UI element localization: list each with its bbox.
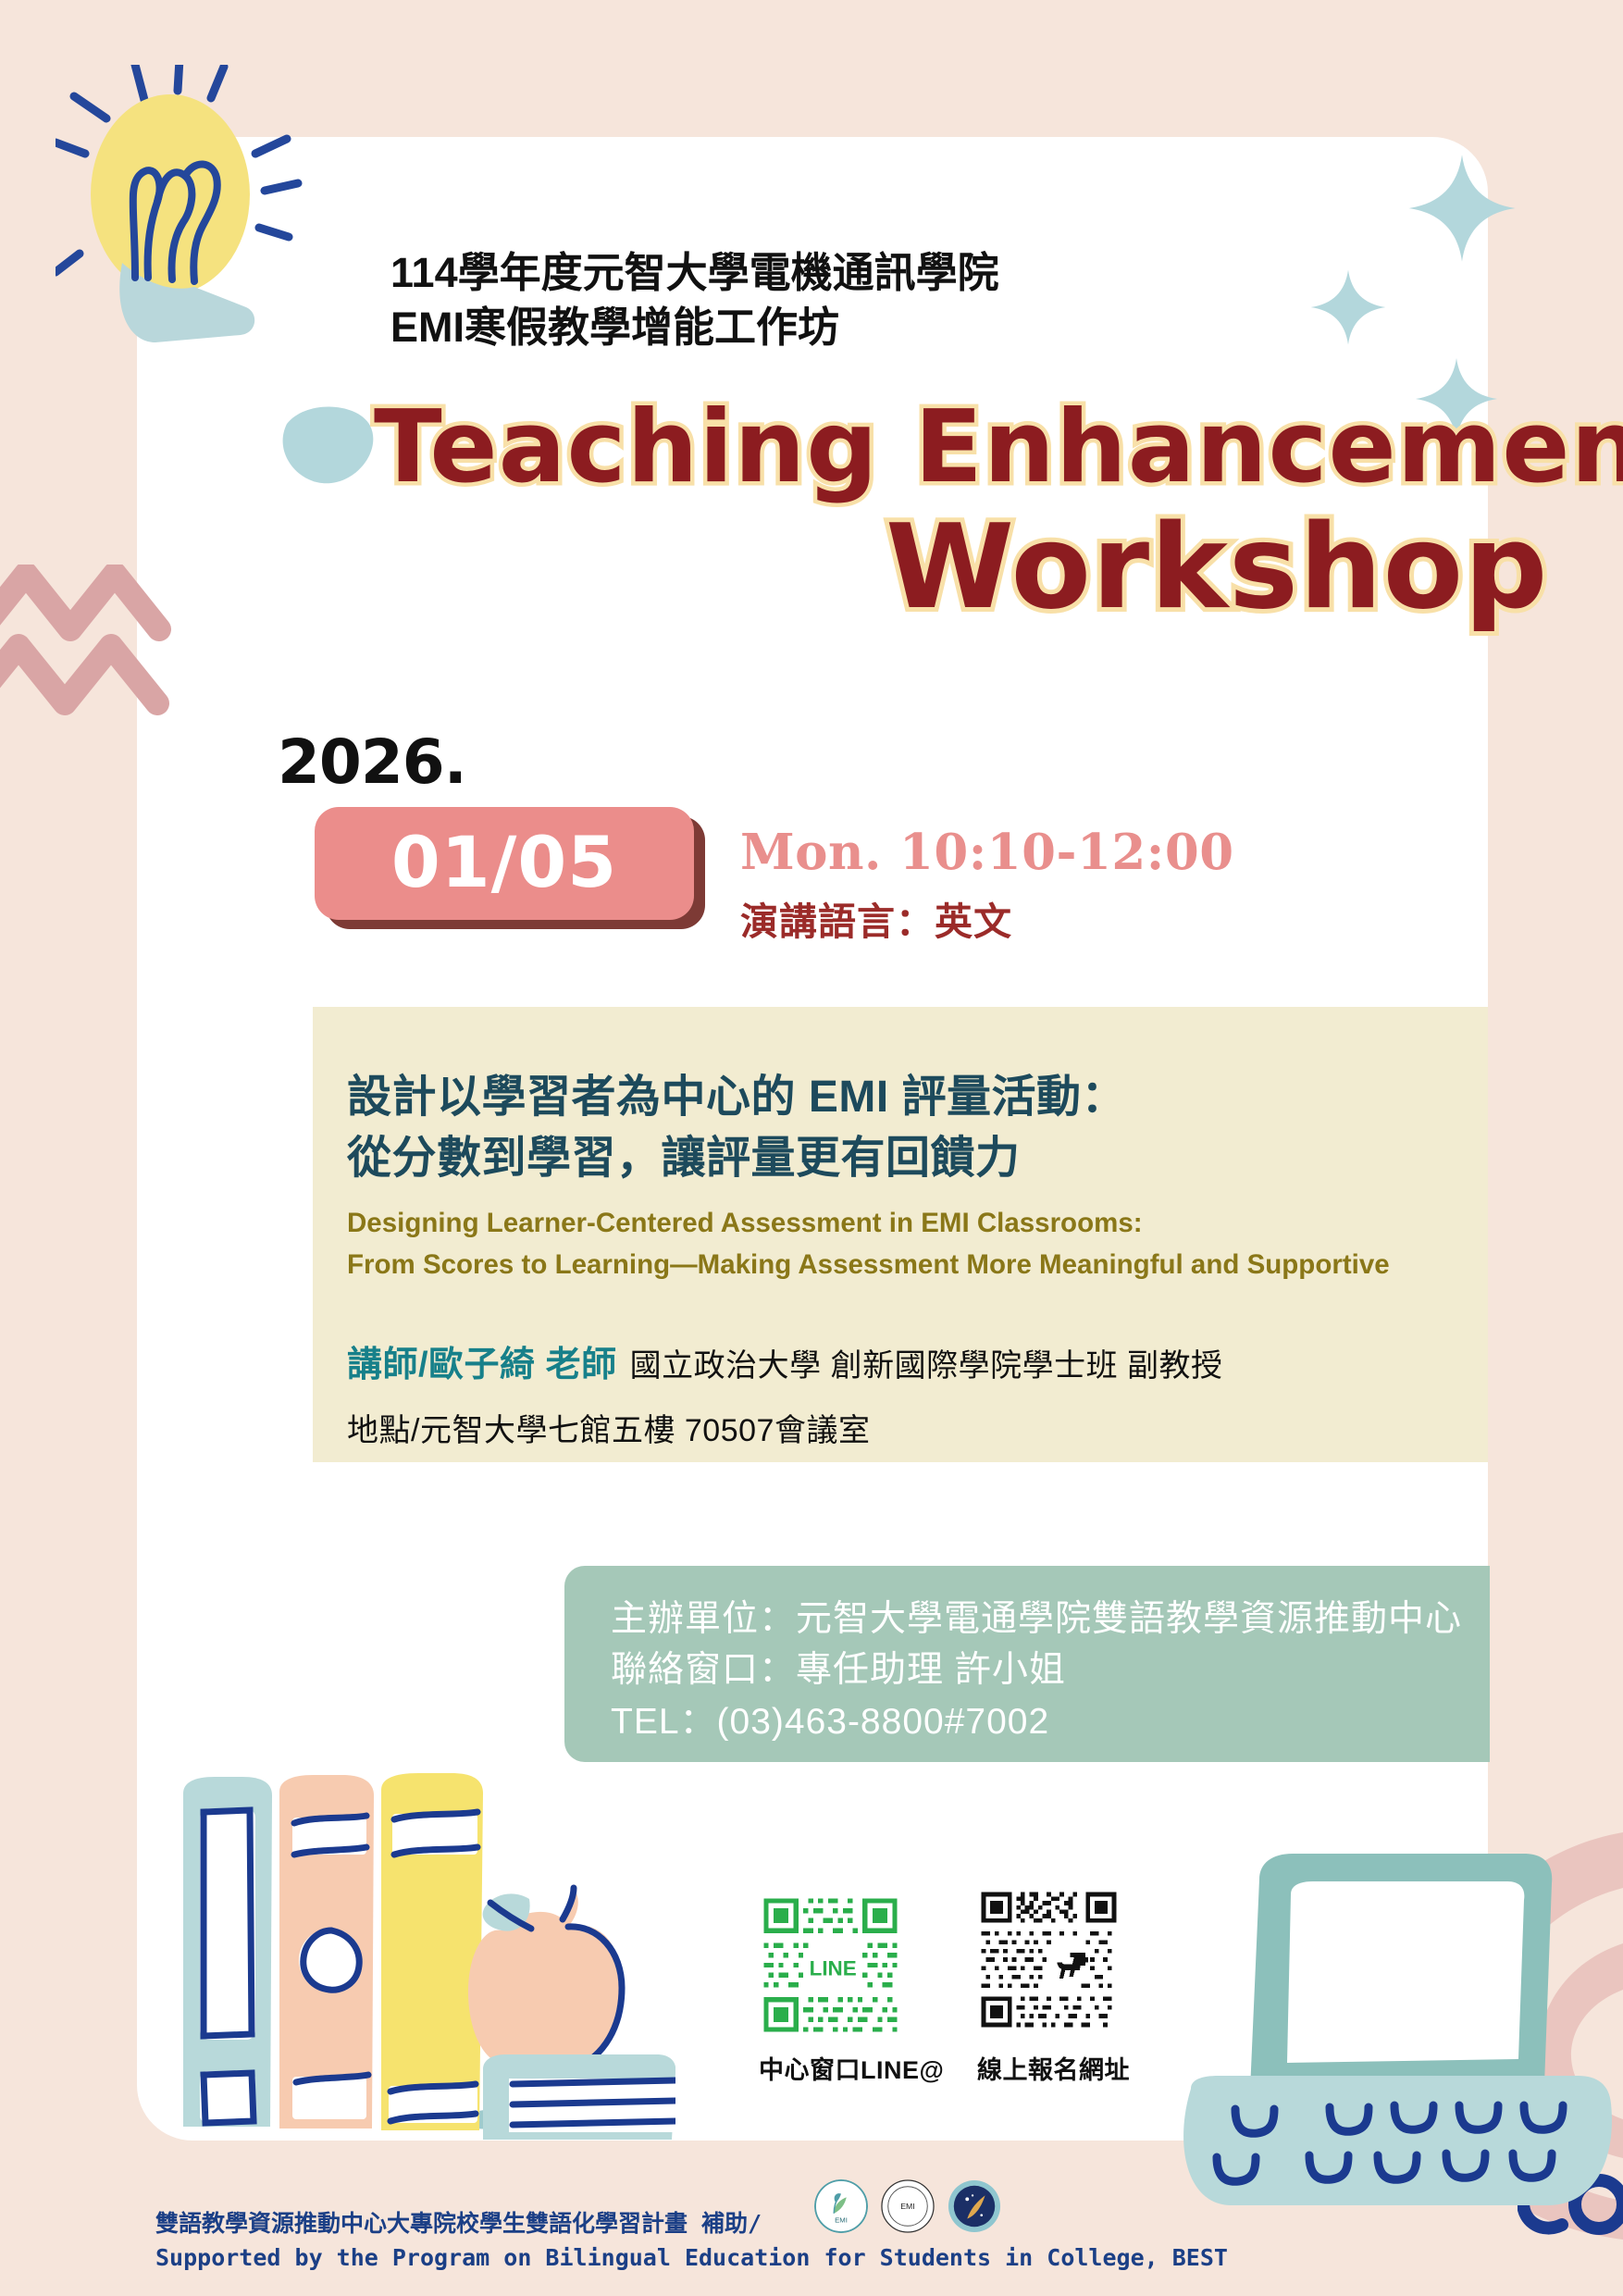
emi-seal-logo-icon: EMI xyxy=(814,2179,868,2233)
venue-label: 地點/元智大學七館五樓 70507會議室 xyxy=(347,1405,870,1450)
title-line-1: Teaching Enhancement xyxy=(374,398,1623,498)
bottom-left-pink-accent xyxy=(0,1962,157,2147)
time-label: Mon. 10:10-12:00 xyxy=(740,824,1234,881)
speaker-affiliation: 國立政治大學 創新國際學院學士班 副教授 xyxy=(630,1348,1223,1384)
sparkle-icon-large xyxy=(1406,153,1518,264)
line-brand-text: LINE xyxy=(810,1957,857,1980)
sparkle-icon-small xyxy=(1309,268,1387,346)
svg-text:EMI: EMI xyxy=(835,2215,848,2224)
contact-details: 主辦單位：元智大學電通學院雙語教學資源推動中心 聯絡窗口：專任助理 許小姐 TE… xyxy=(611,1594,1462,1747)
line-qr-block[interactable]: LINE 中心窗口LINE@ xyxy=(759,1893,944,2086)
line-qr-label: 中心窗口LINE@ xyxy=(759,2050,944,2086)
books-and-apple-illustration xyxy=(157,1758,675,2147)
registration-qr-label: 線上報名網址 xyxy=(977,2050,1130,2086)
header-chinese-title: 114學年度元智大學電機通訊學院 EMI寒假教學增能工作坊 xyxy=(390,245,999,355)
emi-center-logo-icon: EMI xyxy=(881,2179,935,2233)
registration-qr-code-icon[interactable] xyxy=(977,1888,1121,2031)
registration-qr-block[interactable]: 線上報名網址 xyxy=(977,1888,1130,2086)
lightbulb-icon xyxy=(56,65,361,361)
university-logo-icon xyxy=(948,2179,1001,2233)
date-chip: 01/05 xyxy=(315,807,694,920)
footer-line-en: Supported by the Program on Bilingual Ed… xyxy=(155,2244,1228,2271)
line-qr-code-icon[interactable]: LINE xyxy=(759,1893,902,2037)
language-label: 演講語言：英文 xyxy=(740,890,1012,946)
year-label: 2026. xyxy=(278,726,466,798)
laptop-illustration xyxy=(1161,1837,1623,2207)
speaker-row: 講師/歐子綺 老師國立政治大學 創新國際學院學士班 副教授 xyxy=(347,1335,1223,1386)
session-title-chinese: 設計以學習者為中心的 EMI 評量活動： 從分數到學習，讓評量更有回饋力 xyxy=(347,1067,1126,1189)
footer-line-cn: 雙語教學資源推動中心大專院校學生雙語化學習計畫 補助/ xyxy=(155,2210,762,2237)
title-line-2: Workshop xyxy=(886,509,1548,626)
date-value: 01/05 xyxy=(391,821,617,903)
footer-credit-text: 雙語教學資源推動中心大專院校學生雙語化學習計畫 補助/Supported by … xyxy=(155,2207,1228,2275)
poster-root: 114學年度元智大學電機通訊學院 EMI寒假教學增能工作坊 Teaching E… xyxy=(0,0,1623,2296)
session-title-english: Designing Learner-Centered Assessment in… xyxy=(347,1203,1390,1286)
svg-text:EMI: EMI xyxy=(900,2202,914,2211)
sponsor-logos: EMI EMI xyxy=(814,2179,1001,2233)
speaker-name: 講師/歐子綺 老師 xyxy=(347,1346,617,1384)
zigzag-decor-left xyxy=(0,565,222,750)
